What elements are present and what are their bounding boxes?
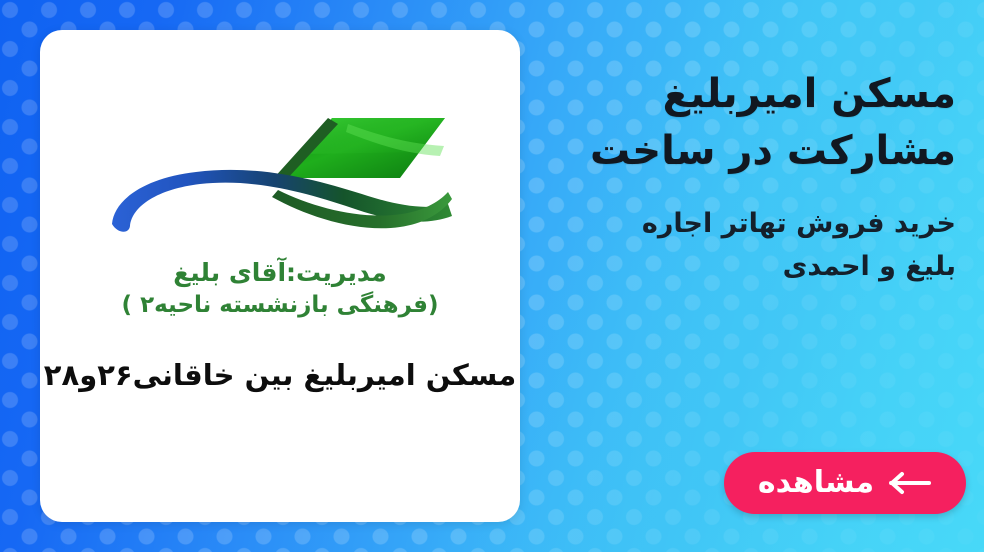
- headline-line-1: مسکن امیربلیغ: [536, 66, 956, 123]
- subtitle-line-2: بلیغ و احمدی: [536, 245, 956, 289]
- info-card: مدیریت:آقای بلیغ (فرهنگی بازنشسته ناحیه۲…: [40, 30, 520, 522]
- subtitle-line-1: خرید فروش تهاتر اجاره: [536, 202, 956, 246]
- view-button-label: مشاهده: [758, 468, 874, 498]
- arrow-left-icon: [888, 470, 932, 496]
- card-text-block: مدیریت:آقای بلیغ (فرهنگی بازنشسته ناحیه۲…: [40, 256, 520, 395]
- page-title: مسکن امیربلیغ مشارکت در ساخت: [536, 66, 956, 180]
- management-line-2: (فرهنگی بازنشسته ناحیه۲ ): [40, 290, 520, 321]
- promo-banner: مدیریت:آقای بلیغ (فرهنگی بازنشسته ناحیه۲…: [0, 0, 984, 552]
- headline-line-2: مشارکت در ساخت: [536, 123, 956, 180]
- house-roof-swoosh-logo: [100, 104, 460, 234]
- subtitle: خرید فروش تهاتر اجاره بلیغ و احمدی: [536, 202, 956, 289]
- view-button[interactable]: مشاهده: [724, 452, 966, 514]
- address-line: مسکن امیربلیغ بین خاقانی۲۶و۲۸: [40, 357, 520, 395]
- management-line-1: مدیریت:آقای بلیغ: [40, 256, 520, 290]
